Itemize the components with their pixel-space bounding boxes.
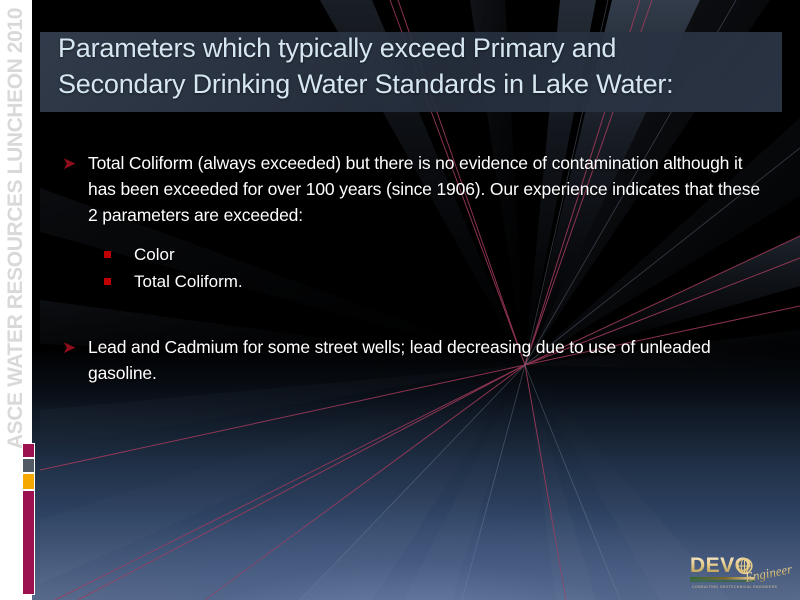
sub-bullet-item: Total Coliform. (104, 269, 768, 294)
bullet-spacer (62, 296, 768, 334)
sub-bullet-item: Color (104, 242, 768, 267)
arrow-bullet-icon: ➤ (62, 338, 88, 358)
sub-bullet-text: Total Coliform. (134, 269, 768, 294)
chip-amber (22, 473, 35, 490)
slide-canvas: Parameters which typically exceed Primar… (0, 0, 800, 600)
bullet-item: ➤ Total Coliform (always exceeded) but t… (62, 150, 768, 228)
bullet-item: ➤ Lead and Cadmium for some street wells… (62, 334, 768, 386)
logo-rule-lower (690, 580, 754, 581)
slide-body: ➤ Total Coliform (always exceeded) but t… (62, 150, 768, 390)
sub-bullet-list: Color Total Coliform. (104, 242, 768, 294)
logo-tagline: CONSULTING GEOTECHNICAL ENGINEERS (692, 585, 778, 589)
bullet-text: Total Coliform (always exceeded) but the… (88, 150, 768, 228)
chip-bar-maroon (22, 490, 35, 595)
page-title: Parameters which typically exceed Primar… (58, 30, 778, 102)
square-bullet-icon (104, 251, 134, 258)
left-sidebar: ASCE WATER RESOURCES LUNCHEON 2010 www.d… (0, 0, 32, 600)
bullet-text: Lead and Cadmium for some street wells; … (88, 334, 768, 386)
square-bullet-icon (104, 278, 134, 285)
sub-bullet-text: Color (134, 242, 768, 267)
title-line-1: Parameters which typically exceed Primar… (58, 30, 778, 66)
devo-logo[interactable]: DEVO Engineering CONSULTING GEOTECHNICAL… (688, 548, 792, 592)
chip-slate (22, 458, 35, 473)
title-line-2: Secondary Drinking Water Standards in La… (58, 66, 778, 102)
chip-maroon (22, 443, 35, 458)
arrow-bullet-icon: ➤ (62, 154, 88, 174)
